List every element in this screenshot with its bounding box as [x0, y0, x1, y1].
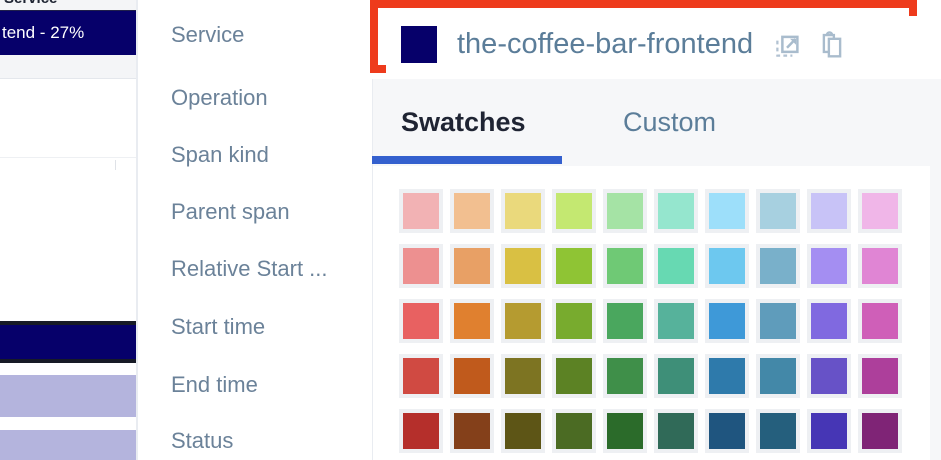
service-header-highlight-box: the-coffee-bar-frontend — [370, 0, 917, 73]
detail-label-relative-start: Relative Start ... — [171, 256, 328, 282]
swatch-1-3[interactable] — [552, 244, 596, 288]
swatch-grid — [372, 166, 941, 460]
swatch-0-8[interactable] — [807, 189, 851, 233]
detail-label-start-time: Start time — [171, 314, 265, 340]
swatch-1-0[interactable] — [399, 244, 443, 288]
grid-right-edge-filler — [930, 166, 941, 460]
swatch-1-4[interactable] — [603, 244, 647, 288]
selected-color-chip[interactable] — [401, 26, 437, 63]
swatch-2-7[interactable] — [756, 299, 800, 343]
color-picker-screen: Service tend - 27% Service Operation Spa… — [0, 0, 941, 460]
trace-row-white-upper[interactable] — [0, 79, 136, 158]
detail-label-status: Status — [171, 428, 233, 454]
swatch-row — [399, 354, 941, 398]
swatch-0-0[interactable] — [399, 189, 443, 233]
swatch-0-7[interactable] — [756, 189, 800, 233]
detail-label-parent-span: Parent span — [171, 199, 290, 225]
swatch-4-0[interactable] — [399, 409, 443, 453]
swatch-0-4[interactable] — [603, 189, 647, 233]
trace-row-selected[interactable]: tend - 27% — [0, 11, 136, 55]
swatch-3-2[interactable] — [501, 354, 545, 398]
span-bar-child-1[interactable] — [0, 375, 136, 417]
swatch-1-8[interactable] — [807, 244, 851, 288]
swatch-0-6[interactable] — [705, 189, 749, 233]
picker-tab-strip: Swatches Custom — [372, 79, 941, 166]
trace-table-pane: Service tend - 27% — [0, 0, 136, 460]
swatch-4-1[interactable] — [450, 409, 494, 453]
swatch-4-6[interactable] — [705, 409, 749, 453]
header-right-filler — [917, 0, 941, 79]
swatch-4-2[interactable] — [501, 409, 545, 453]
swatch-4-7[interactable] — [756, 409, 800, 453]
tab-custom[interactable]: Custom — [623, 79, 716, 166]
swatch-3-8[interactable] — [807, 354, 851, 398]
swatch-3-5[interactable] — [654, 354, 698, 398]
swatch-3-4[interactable] — [603, 354, 647, 398]
swatch-row — [399, 299, 941, 343]
swatch-2-6[interactable] — [705, 299, 749, 343]
swatch-3-9[interactable] — [858, 354, 902, 398]
swatch-1-7[interactable] — [756, 244, 800, 288]
swatch-0-5[interactable] — [654, 189, 698, 233]
swatch-0-1[interactable] — [450, 189, 494, 233]
swatch-2-2[interactable] — [501, 299, 545, 343]
swatch-2-1[interactable] — [450, 299, 494, 343]
swatch-3-3[interactable] — [552, 354, 596, 398]
detail-label-end-time: End time — [171, 372, 258, 398]
swatch-4-5[interactable] — [654, 409, 698, 453]
swatch-4-8[interactable] — [807, 409, 851, 453]
swatch-3-1[interactable] — [450, 354, 494, 398]
trace-row-grey[interactable] — [0, 55, 136, 79]
swatch-4-4[interactable] — [603, 409, 647, 453]
swatch-row — [399, 409, 941, 453]
span-detail-label-column: Service Operation Span kind Parent span … — [138, 0, 370, 460]
detail-label-span-kind: Span kind — [171, 142, 269, 168]
swatch-2-4[interactable] — [603, 299, 647, 343]
span-bar-child-2[interactable] — [0, 430, 136, 460]
swatch-1-6[interactable] — [705, 244, 749, 288]
swatch-1-2[interactable] — [501, 244, 545, 288]
swatch-2-9[interactable] — [858, 299, 902, 343]
open-in-new-icon[interactable] — [773, 30, 803, 60]
swatch-3-6[interactable] — [705, 354, 749, 398]
swatch-row — [399, 189, 941, 233]
trace-column-header-service: Service — [0, 0, 136, 10]
swatch-1-1[interactable] — [450, 244, 494, 288]
active-tab-underline — [372, 156, 562, 164]
swatch-2-8[interactable] — [807, 299, 851, 343]
service-name-label: the-coffee-bar-frontend — [457, 28, 753, 61]
swatch-1-5[interactable] — [654, 244, 698, 288]
swatch-0-3[interactable] — [552, 189, 596, 233]
swatch-4-3[interactable] — [552, 409, 596, 453]
swatch-2-3[interactable] — [552, 299, 596, 343]
swatch-2-0[interactable] — [399, 299, 443, 343]
swatch-0-2[interactable] — [501, 189, 545, 233]
swatch-0-9[interactable] — [858, 189, 902, 233]
service-header-row[interactable]: the-coffee-bar-frontend — [386, 16, 917, 73]
copy-to-clipboard-icon[interactable] — [817, 30, 847, 60]
tab-swatches[interactable]: Swatches — [401, 79, 526, 166]
trace-row-white-lower[interactable] — [0, 159, 136, 348]
color-picker-popover: the-coffee-bar-frontend Swatches — [370, 0, 941, 460]
swatch-2-5[interactable] — [654, 299, 698, 343]
detail-label-service: Service — [171, 22, 244, 48]
span-bar-root[interactable] — [0, 321, 136, 363]
swatch-4-9[interactable] — [858, 409, 902, 453]
swatch-3-0[interactable] — [399, 354, 443, 398]
swatch-1-9[interactable] — [858, 244, 902, 288]
detail-label-operation: Operation — [171, 85, 268, 111]
swatch-row — [399, 244, 941, 288]
timeline-tick-mark — [115, 160, 116, 170]
swatch-3-7[interactable] — [756, 354, 800, 398]
